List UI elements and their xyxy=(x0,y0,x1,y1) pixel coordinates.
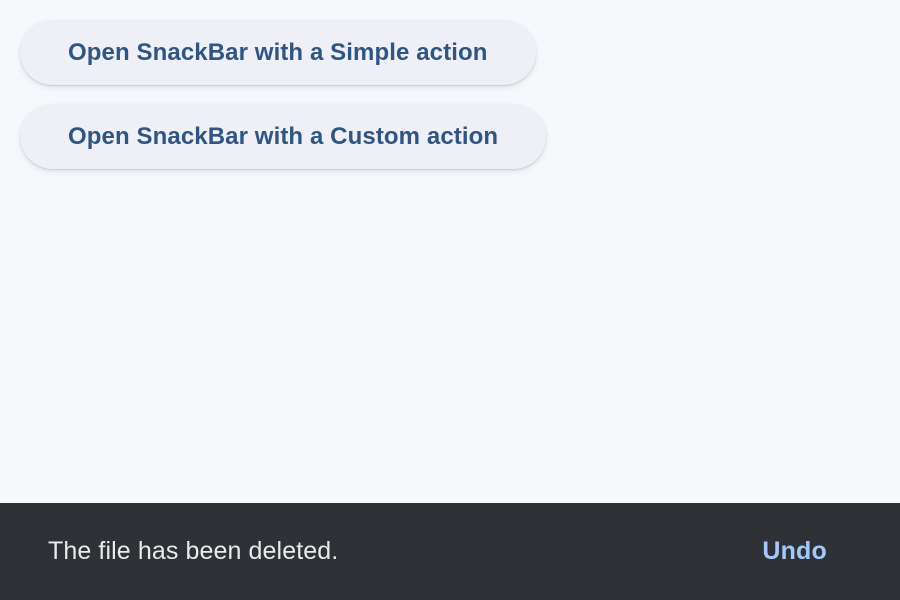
snackbar-undo-button[interactable]: Undo xyxy=(750,533,839,570)
open-snackbar-custom-action-button[interactable]: Open SnackBar with a Custom action xyxy=(20,104,546,169)
snackbar-undo-label: Undo xyxy=(762,537,827,565)
open-snackbar-custom-action-label: Open SnackBar with a Custom action xyxy=(68,125,498,149)
app-root: Open SnackBar with a Simple action Open … xyxy=(0,0,900,600)
button-stack: Open SnackBar with a Simple action Open … xyxy=(20,20,546,169)
snackbar-message: The file has been deleted. xyxy=(48,539,338,564)
open-snackbar-simple-action-button[interactable]: Open SnackBar with a Simple action xyxy=(20,20,536,85)
snackbar: The file has been deleted. Undo xyxy=(0,503,900,600)
open-snackbar-simple-action-label: Open SnackBar with a Simple action xyxy=(68,41,488,65)
